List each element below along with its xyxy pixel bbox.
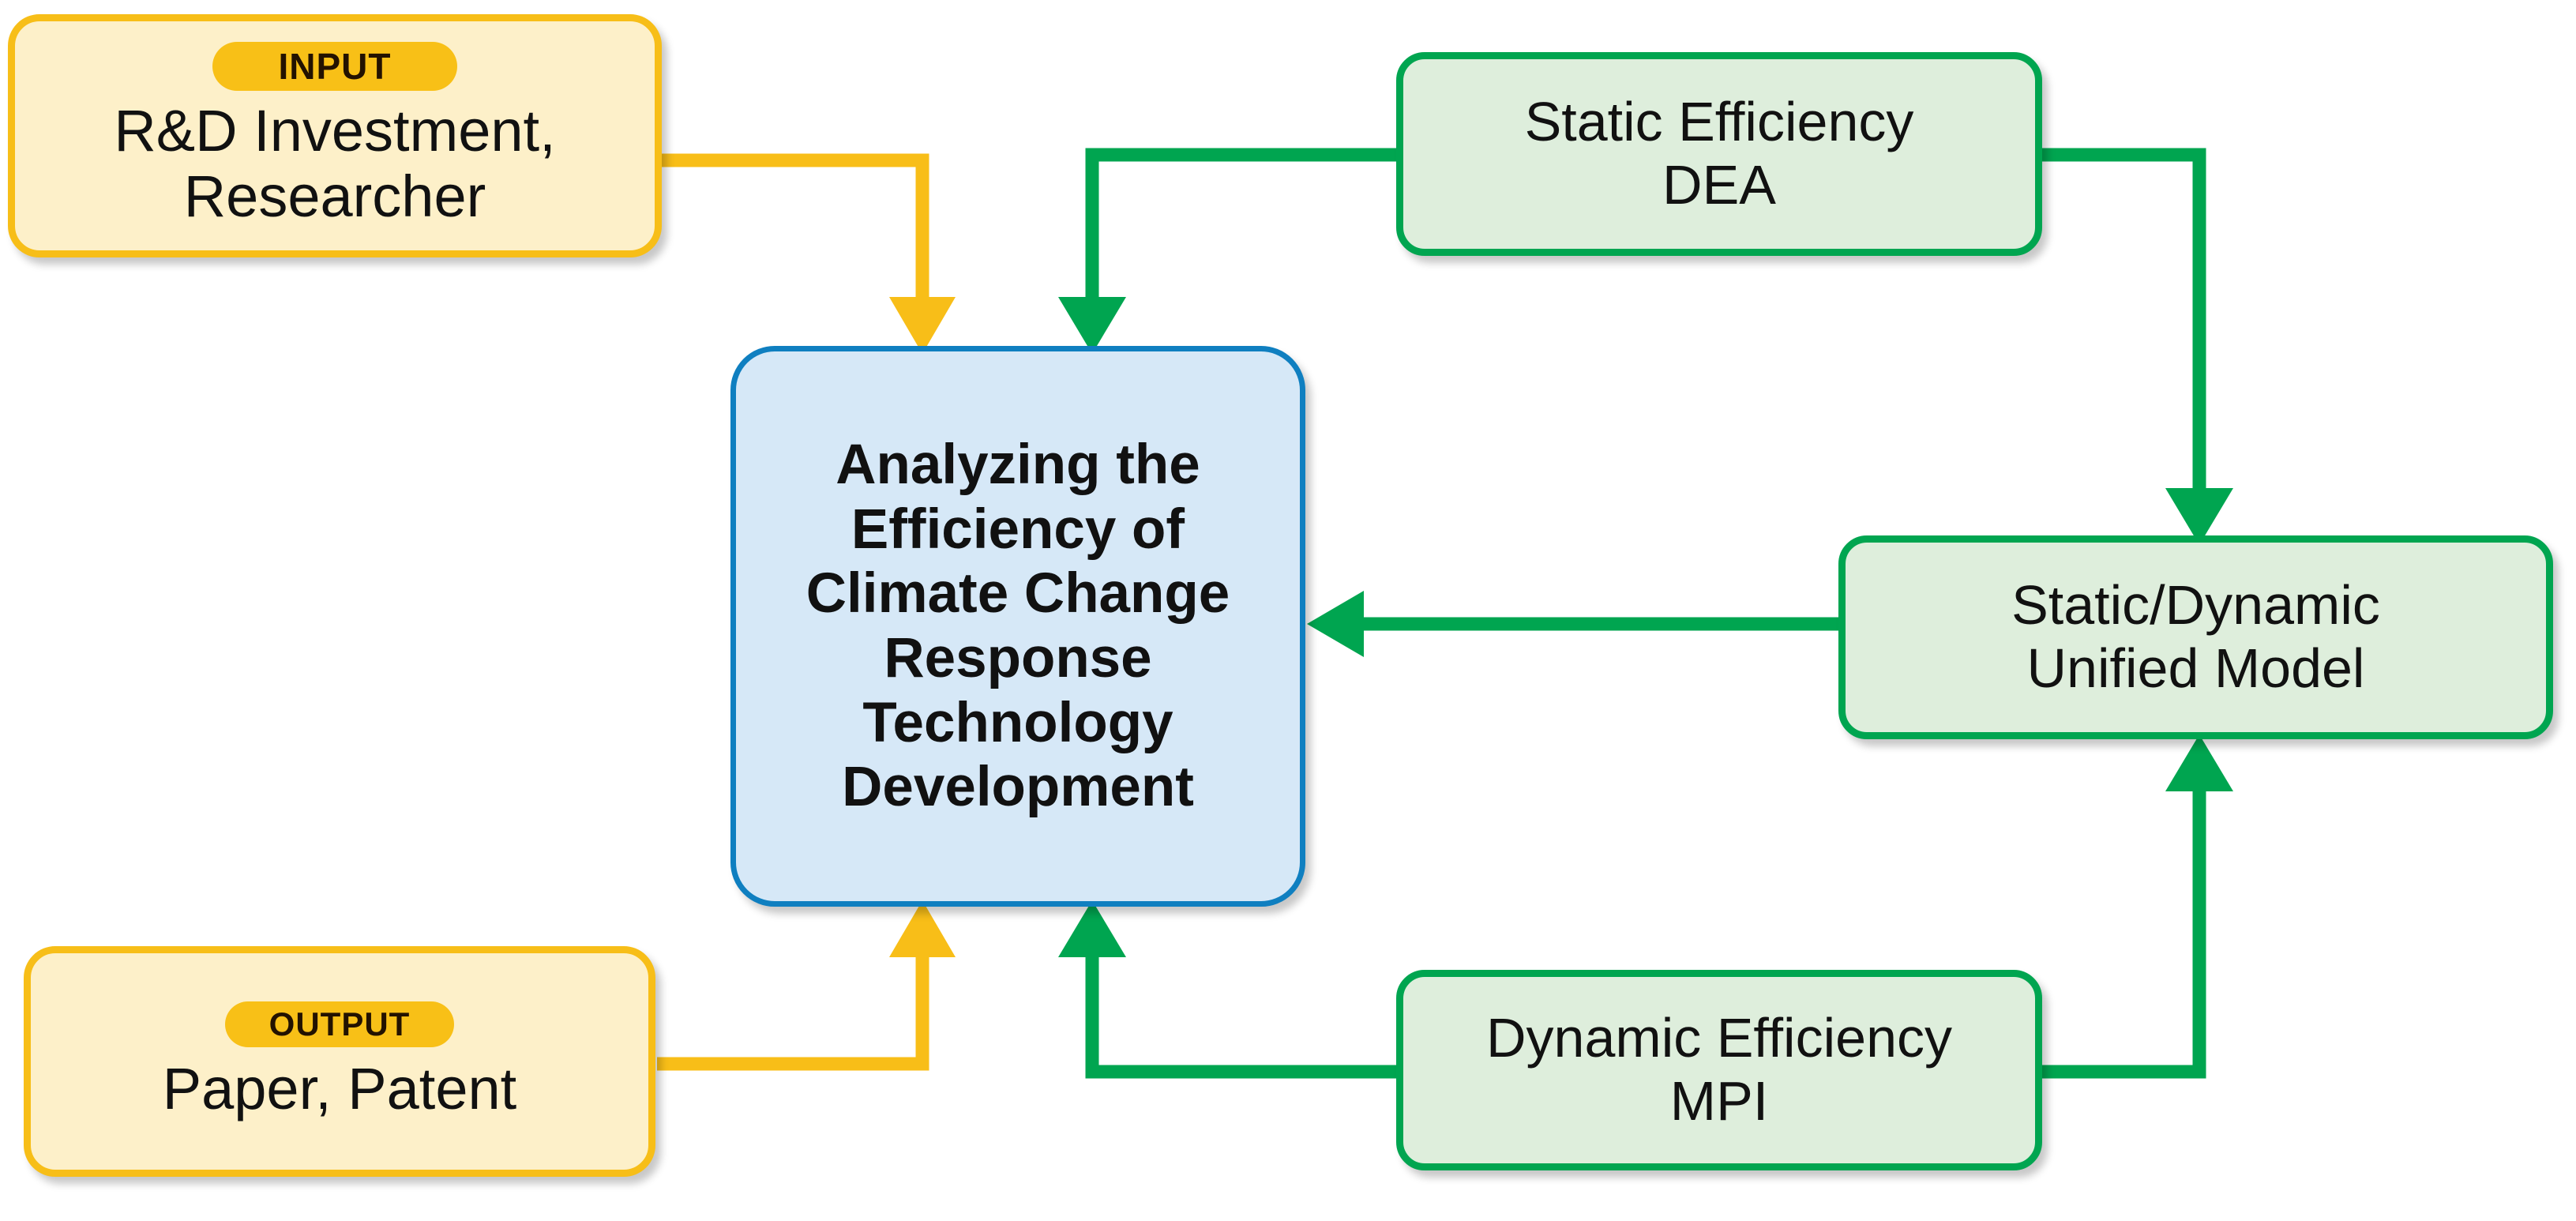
- dynamic-efficiency-node[interactable]: Dynamic Efficiency MPI: [1396, 970, 2042, 1170]
- edge-unified-to-center: [1307, 591, 1838, 657]
- unified-model-node[interactable]: Static/Dynamic Unified Model: [1838, 535, 2553, 739]
- input-label: R&D Investment, Researcher: [114, 99, 555, 230]
- static-efficiency-node[interactable]: Static Efficiency DEA: [1396, 52, 2042, 256]
- static-efficiency-label: Static Efficiency DEA: [1525, 91, 1914, 217]
- center-label: Analyzing the Efficiency of Climate Chan…: [806, 433, 1230, 820]
- unified-model-label: Static/Dynamic Unified Model: [2011, 574, 2380, 701]
- output-label: Paper, Patent: [163, 1057, 516, 1122]
- input-badge: INPUT: [212, 42, 457, 91]
- center-node[interactable]: Analyzing the Efficiency of Climate Chan…: [730, 346, 1305, 907]
- diagram-canvas: INPUT R&D Investment, Researcher OUTPUT …: [0, 0, 2576, 1221]
- input-node[interactable]: INPUT R&D Investment, Researcher: [8, 14, 662, 257]
- edge-dea-to-unified: [2042, 155, 2233, 545]
- edge-input-to-center: [662, 160, 956, 354]
- edge-mpi-to-unified: [2042, 734, 2233, 1072]
- dynamic-efficiency-label: Dynamic Efficiency MPI: [1486, 1007, 1952, 1133]
- edge-output-to-center: [657, 900, 956, 1064]
- output-node[interactable]: OUTPUT Paper, Patent: [24, 946, 655, 1177]
- edge-dea-to-center: [1058, 155, 1396, 354]
- edge-mpi-to-center: [1058, 900, 1396, 1072]
- output-badge: OUTPUT: [225, 1001, 454, 1047]
